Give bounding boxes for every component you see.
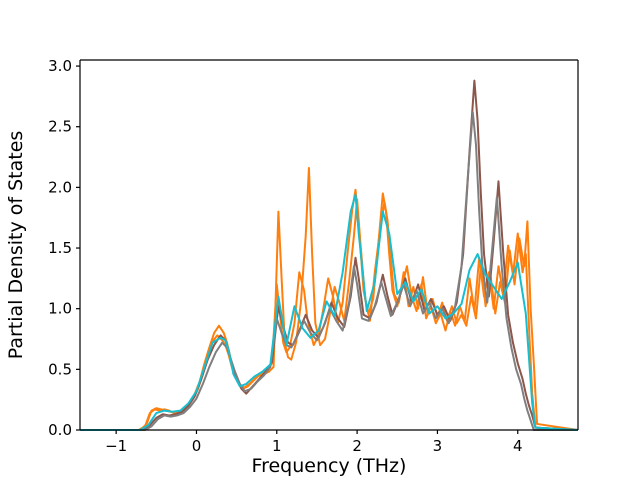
x-tick-label-5: 4: [513, 437, 523, 455]
y-tick-label-3: 1.5: [48, 239, 72, 257]
pdos-line-chart: −1012340.00.51.01.52.02.53.0 Frequency (…: [0, 0, 640, 480]
x-tick-label-0: −1: [105, 437, 127, 455]
y-tick-label-1: 0.5: [48, 360, 72, 378]
y-tick-label-5: 2.5: [48, 118, 72, 136]
y-tick-label-6: 3.0: [48, 57, 72, 75]
x-tick-label-4: 3: [433, 437, 443, 455]
y-tick-label-2: 1.0: [48, 300, 72, 318]
x-tick-label-3: 2: [352, 437, 362, 455]
y-axis-label: Partial Density of States: [5, 131, 27, 360]
y-tick-label-4: 2.0: [48, 178, 72, 196]
figure-canvas: −1012340.00.51.01.52.02.53.0 Frequency (…: [0, 0, 640, 480]
x-axis-label: Frequency (THz): [252, 455, 407, 477]
figure-background: [0, 0, 640, 480]
y-tick-label-0: 0.0: [48, 421, 72, 439]
x-tick-label-2: 1: [272, 437, 282, 455]
x-tick-label-1: 0: [192, 437, 202, 455]
